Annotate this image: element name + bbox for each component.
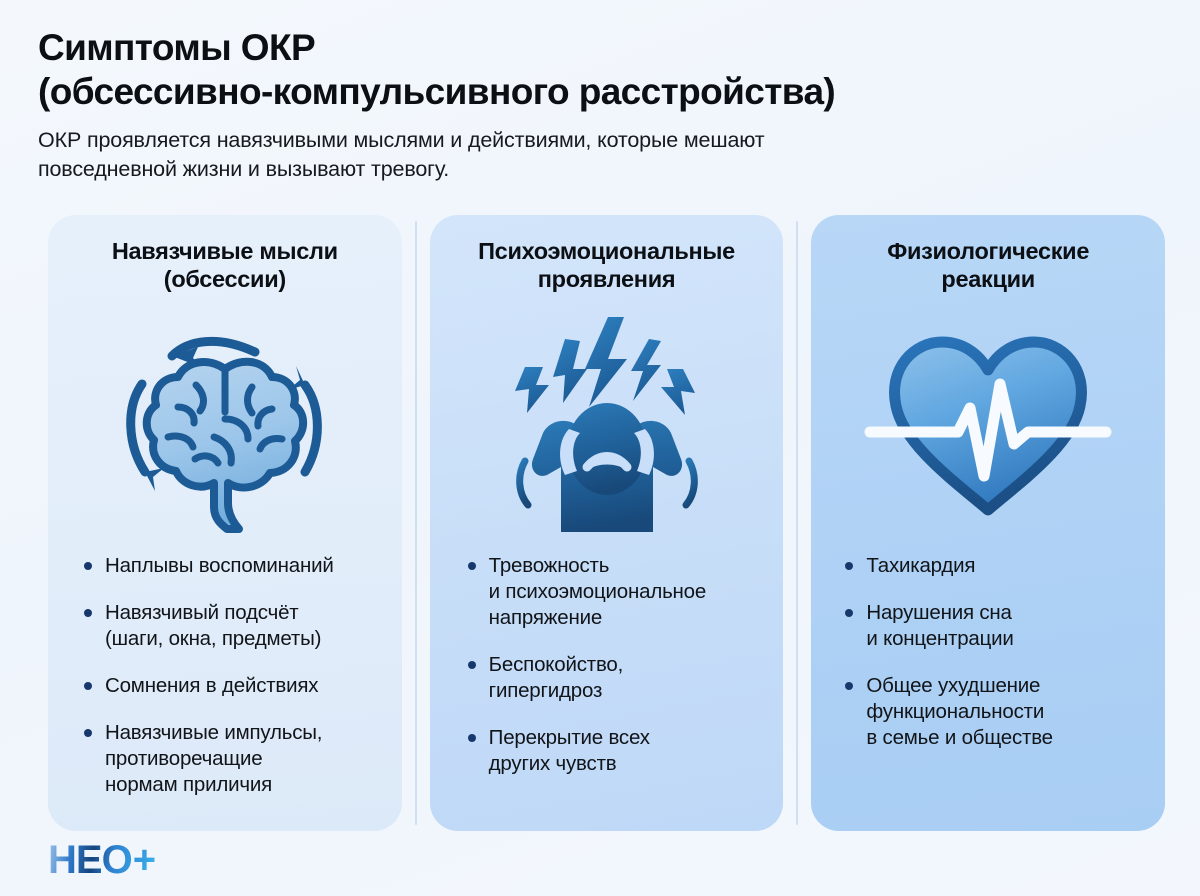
- card-heading: Физиологические реакции: [831, 237, 1145, 295]
- list-item: Беспокойство, гипергидроз: [468, 652, 764, 704]
- list-item: Тревожность и психоэмоциональное напряже…: [468, 553, 764, 631]
- page-title: Симптомы ОКР (обсессивно-компульсивного …: [38, 26, 1166, 113]
- stressed-person-icon: [450, 297, 764, 547]
- bullet-list: Наплывы воспоминаний Навязчивый подсчёт …: [68, 553, 382, 798]
- card-physiological: Физиологические реакции: [811, 215, 1165, 831]
- card-heading: Навязчивые мысли (обсессии): [68, 237, 382, 295]
- card-psychoemotional: Психоэмоциональные проявления: [430, 215, 784, 831]
- card-heading: Психоэмоциональные проявления: [450, 237, 764, 295]
- brand-logo-plus-icon: +: [133, 840, 156, 880]
- list-item: Навязчивые импульсы, противоречащие норм…: [84, 720, 382, 798]
- list-item: Общее ухудшение функциональности в семье…: [845, 673, 1145, 751]
- page-subtitle: ОКР проявляется навязчивыми мыслями и де…: [38, 126, 1078, 183]
- list-item: Тахикардия: [845, 553, 1145, 579]
- list-item: Нарушения сна и концентрации: [845, 600, 1145, 652]
- card-divider-2: [783, 215, 811, 831]
- brand-logo: НЕО +: [48, 840, 156, 880]
- brand-logo-text: НЕО: [48, 840, 132, 880]
- list-item: Сомнения в действиях: [84, 673, 382, 699]
- heart-pulse-icon: [831, 297, 1145, 547]
- header: Симптомы ОКР (обсессивно-компульсивного …: [38, 26, 1166, 184]
- list-item: Перекрытие всех других чувств: [468, 725, 764, 777]
- list-item: Наплывы воспоминаний: [84, 553, 382, 579]
- list-item: Навязчивый подсчёт (шаги, окна, предметы…: [84, 600, 382, 652]
- card-obsessive-thoughts: Навязчивые мысли (обсессии): [48, 215, 402, 831]
- infographic-page: Симптомы ОКР (обсессивно-компульсивного …: [0, 0, 1200, 896]
- bullet-list: Тахикардия Нарушения сна и концентрации …: [831, 553, 1145, 751]
- bullet-list: Тревожность и психоэмоциональное напряже…: [450, 553, 764, 777]
- cards-row: Навязчивые мысли (обсессии): [48, 215, 1165, 831]
- card-divider-1: [402, 215, 430, 831]
- brain-cycle-icon: [68, 297, 382, 547]
